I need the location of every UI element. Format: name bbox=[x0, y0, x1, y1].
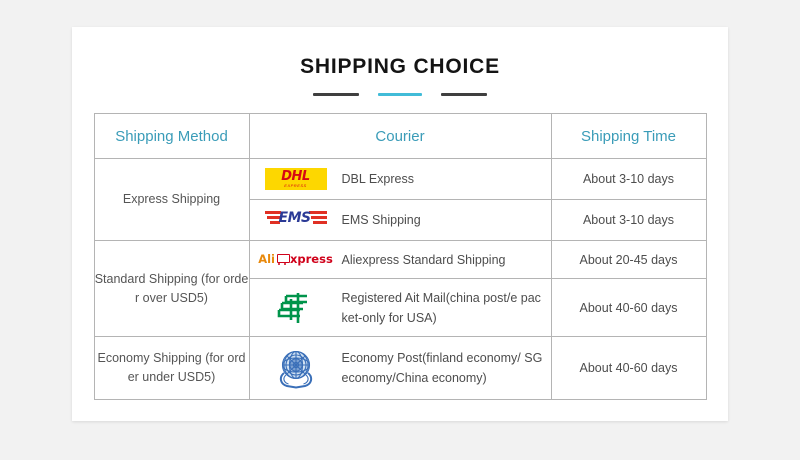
ems-logo: EMS bbox=[250, 208, 342, 232]
table-row: Standard Shipping (for order over USD5) … bbox=[94, 241, 706, 279]
dhl-wordmark: DHL bbox=[281, 170, 309, 183]
shipping-table: Shipping Method Courier Shipping Time Ex… bbox=[94, 113, 707, 400]
page-title: SHIPPING CHOICE bbox=[72, 55, 728, 79]
cell-courier: DHL EXPRESS DBL Express bbox=[249, 159, 551, 200]
aliexpress-xpress-text: xpress bbox=[290, 254, 333, 266]
dhl-subtext: EXPRESS bbox=[284, 184, 306, 188]
china-post-logo bbox=[250, 289, 342, 327]
courier-name: DBL Express bbox=[342, 169, 420, 189]
title-underline-decoration bbox=[72, 93, 728, 96]
table-row: Express Shipping DHL EXPRESS DBL Express… bbox=[94, 159, 706, 200]
aliexpress-logo: Ali xpress bbox=[250, 254, 342, 266]
column-header-shipping-method: Shipping Method bbox=[94, 114, 249, 159]
cell-shipping-time: About 40-60 days bbox=[551, 279, 706, 337]
cell-shipping-method: Economy Shipping (for order under USD5) bbox=[94, 337, 249, 400]
courier-name: Registered Ait Mail(china post/e packet-… bbox=[342, 288, 551, 328]
cell-shipping-time: About 3-10 days bbox=[551, 200, 706, 241]
courier-name: Economy Post(finland economy/ SG economy… bbox=[342, 348, 551, 388]
shopping-cart-icon bbox=[276, 254, 289, 265]
cell-shipping-method: Express Shipping bbox=[94, 159, 249, 241]
dash-right bbox=[441, 93, 487, 96]
table-header-row: Shipping Method Courier Shipping Time bbox=[94, 114, 706, 159]
cell-courier: Economy Post(finland economy/ SG economy… bbox=[249, 337, 551, 400]
table-row: Economy Shipping (for order under USD5) bbox=[94, 337, 706, 400]
dhl-logo: DHL EXPRESS bbox=[250, 168, 342, 190]
cell-shipping-time: About 20-45 days bbox=[551, 241, 706, 279]
united-nations-emblem-icon bbox=[273, 346, 319, 390]
ems-wordmark: EMS bbox=[279, 211, 311, 225]
courier-name: Aliexpress Standard Shipping bbox=[342, 250, 512, 270]
cell-courier: EMS EMS Shipping bbox=[249, 200, 551, 241]
shipping-choice-card: SHIPPING CHOICE Shipping Method Courier … bbox=[72, 27, 728, 421]
cell-shipping-time: About 3-10 days bbox=[551, 159, 706, 200]
united-nations-logo bbox=[250, 346, 342, 390]
column-header-shipping-time: Shipping Time bbox=[551, 114, 706, 159]
courier-name: EMS Shipping bbox=[342, 210, 427, 230]
dash-left bbox=[313, 93, 359, 96]
cell-shipping-method: Standard Shipping (for order over USD5) bbox=[94, 241, 249, 337]
cell-courier: Registered Ait Mail(china post/e packet-… bbox=[249, 279, 551, 337]
cell-shipping-time: About 40-60 days bbox=[551, 337, 706, 400]
aliexpress-ali-text: Ali bbox=[258, 254, 275, 266]
china-post-emblem-icon bbox=[276, 289, 316, 327]
cell-courier: Ali xpress Aliexpress Standard Shipping bbox=[249, 241, 551, 279]
dash-center-accent bbox=[378, 93, 422, 96]
column-header-courier: Courier bbox=[249, 114, 551, 159]
